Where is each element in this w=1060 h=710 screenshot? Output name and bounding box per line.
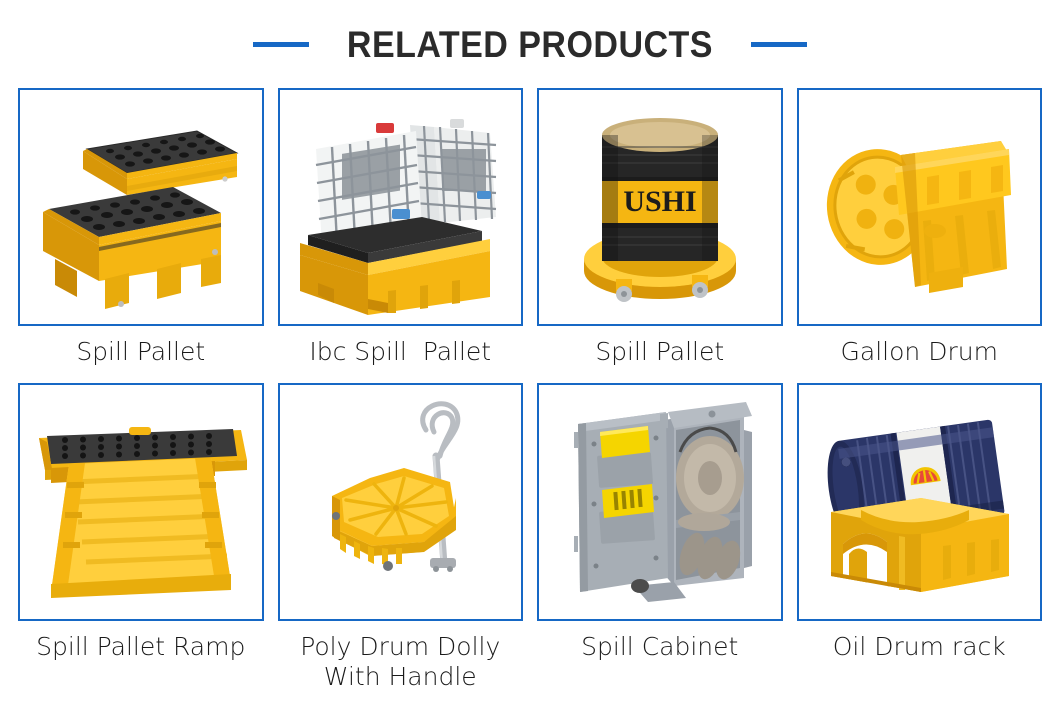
related-products-page: RELATED PRODUCTS <box>0 0 1060 710</box>
gallon-drum-icon <box>803 91 1035 323</box>
product-thumb-ibc-spill-pallet[interactable] <box>278 88 524 326</box>
product-caption-gallon-drum: Gallon Drum <box>841 337 998 367</box>
product-card-spill-pallet-ramp[interactable]: Spill Pallet Ramp <box>18 383 264 693</box>
product-thumb-oil-drum-rack[interactable] <box>797 383 1043 621</box>
product-caption-oil-drum-rack: Oil Drum rack <box>833 632 1006 662</box>
product-thumb-poly-drum-dolly[interactable] <box>278 383 524 621</box>
product-caption-drum-spill-dolly: Spill Pallet <box>595 337 724 367</box>
right-rule-decoration <box>751 42 807 47</box>
product-card-gallon-drum[interactable]: Gallon Drum <box>797 88 1043 367</box>
product-thumb-gallon-drum[interactable] <box>797 88 1043 326</box>
product-card-poly-drum-dolly[interactable]: Poly Drum Dolly With Handle <box>278 383 524 693</box>
spill-cabinet-icon <box>544 386 776 618</box>
product-card-spill-cabinet[interactable]: Spill Cabinet <box>537 383 783 693</box>
product-thumb-spill-pallet-ramp[interactable] <box>18 383 264 621</box>
product-caption-spill-pallet-ramp: Spill Pallet Ramp <box>36 632 245 662</box>
drum-spill-dolly-icon: USHI <box>544 91 776 323</box>
page-title: RELATED PRODUCTS <box>347 26 713 63</box>
ibc-spill-pallet-icon <box>284 91 516 323</box>
oil-drum-rack-icon <box>803 386 1035 618</box>
product-caption-poly-drum-dolly: Poly Drum Dolly With Handle <box>300 632 500 693</box>
product-caption-spill-cabinet: Spill Cabinet <box>581 632 738 662</box>
section-header: RELATED PRODUCTS <box>0 0 1060 88</box>
poly-drum-dolly-icon <box>284 386 516 618</box>
spill-pallet-ramp-icon <box>25 386 257 618</box>
drum-brand-label: USHI <box>623 185 696 218</box>
product-card-drum-spill-dolly[interactable]: USHI Spill Pallet <box>537 88 783 367</box>
product-caption-ibc-spill-pallet: Ibc Spill Pallet <box>309 337 491 367</box>
product-card-ibc-spill-pallet[interactable]: Ibc Spill Pallet <box>278 88 524 367</box>
product-caption-spill-pallet-stacked: Spill Pallet <box>76 337 205 367</box>
product-thumb-spill-pallet-stacked[interactable] <box>18 88 264 326</box>
spill-pallet-stacked-icon <box>25 91 257 323</box>
left-rule-decoration <box>253 42 309 47</box>
product-grid: Spill Pallet <box>0 88 1060 693</box>
product-thumb-drum-spill-dolly[interactable]: USHI <box>537 88 783 326</box>
product-card-spill-pallet-stacked[interactable]: Spill Pallet <box>18 88 264 367</box>
product-card-oil-drum-rack[interactable]: Oil Drum rack <box>797 383 1043 693</box>
product-thumb-spill-cabinet[interactable] <box>537 383 783 621</box>
